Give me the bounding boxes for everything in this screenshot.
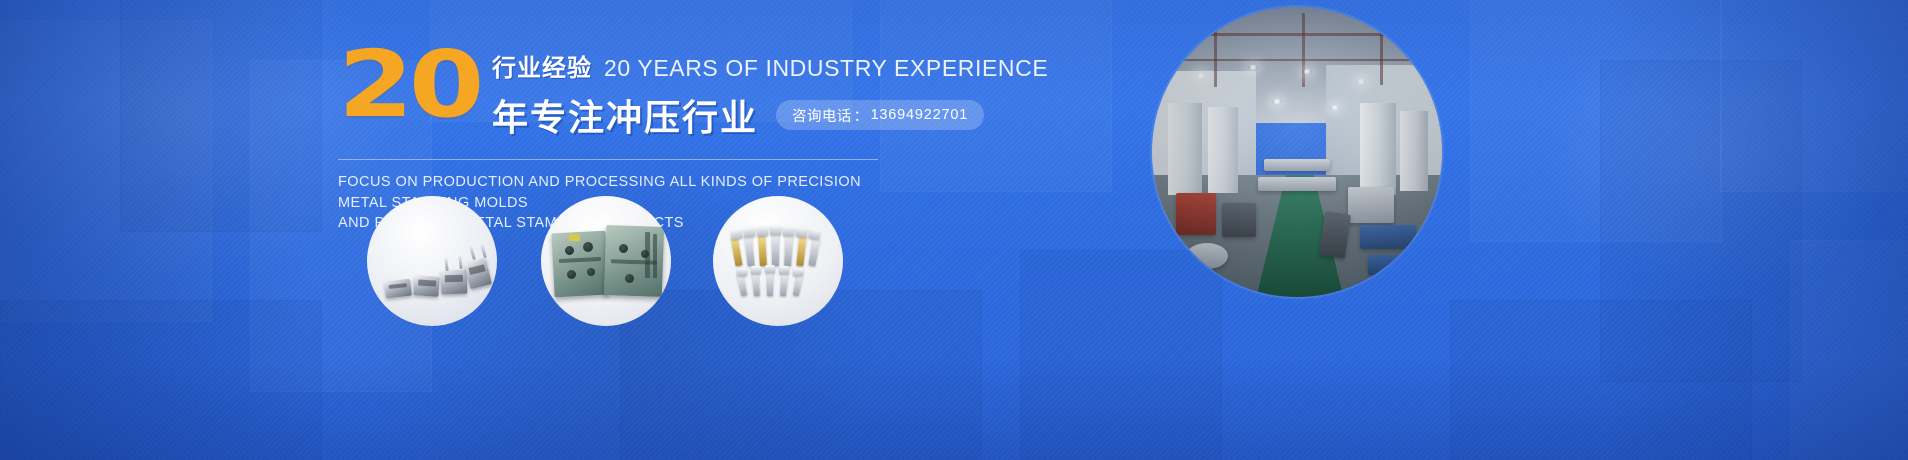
headline-cn-subtitle: 行业经验	[492, 48, 592, 83]
product-image-mold	[541, 196, 671, 326]
headline-text-group: 行业经验 20 YEARS OF INDUSTRY EXPERIENCE 年专注…	[492, 38, 1048, 141]
headline-en-subtitle: 20 YEARS OF INDUSTRY EXPERIENCE	[604, 55, 1048, 82]
phone-label: 咨询电话	[792, 105, 852, 126]
headline-cn-title: 年专注冲压行业	[492, 89, 758, 141]
years-number: 20	[338, 46, 480, 123]
promo-banner: 20 行业经验 20 YEARS OF INDUSTRY EXPERIENCE …	[0, 0, 1908, 460]
product-image-terminals	[713, 196, 843, 326]
headline-row: 20 行业经验 20 YEARS OF INDUSTRY EXPERIENCE …	[338, 38, 898, 141]
headline-line-1: 行业经验 20 YEARS OF INDUSTRY EXPERIENCE	[492, 48, 1048, 83]
phone-separator: ：	[854, 105, 869, 126]
product-image-connectors	[367, 196, 497, 326]
headline-line-2: 年专注冲压行业 咨询电话 ： 13694922701	[492, 89, 1048, 141]
factory-photo	[1152, 7, 1442, 297]
factory-shading	[1152, 7, 1442, 297]
phone-badge[interactable]: 咨询电话 ： 13694922701	[776, 100, 984, 130]
phone-number: 13694922701	[871, 107, 969, 123]
divider	[338, 159, 878, 160]
